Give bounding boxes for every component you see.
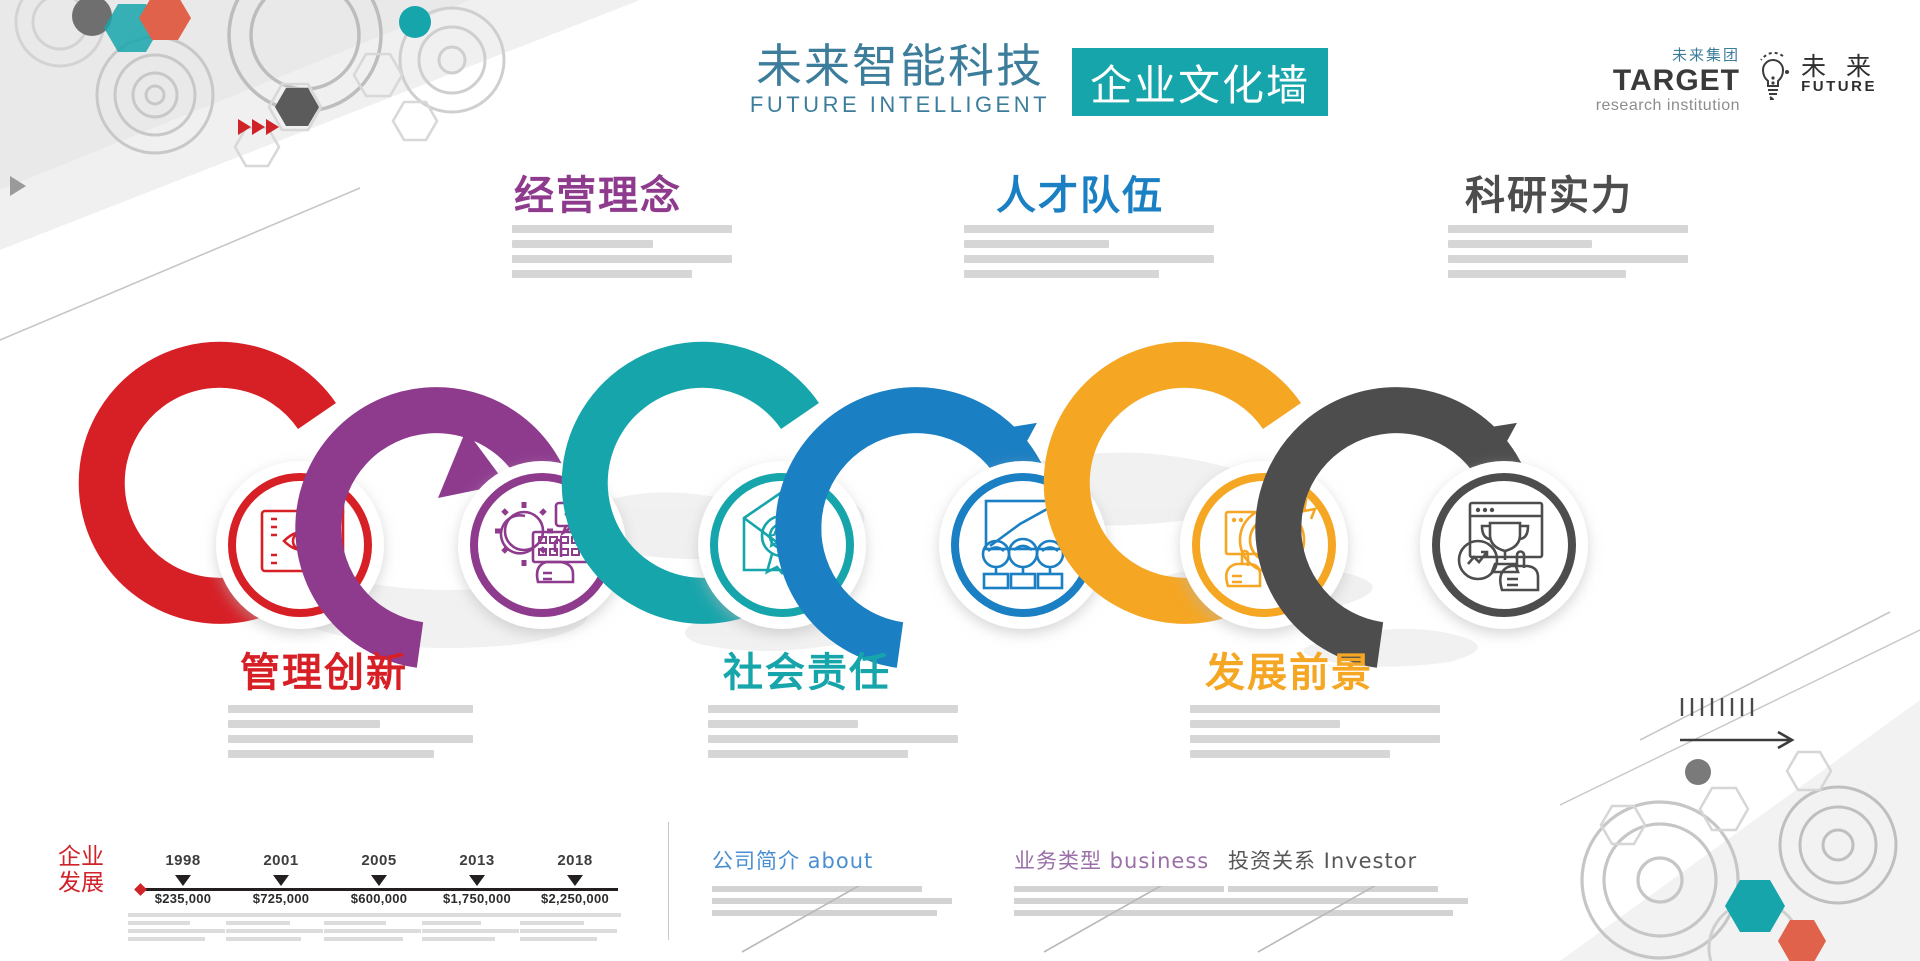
timeline-text-lines <box>226 913 336 941</box>
node-title-2: 经营理念 <box>514 163 682 221</box>
logo-target: 未来集团 TARGET research institution <box>1585 44 1740 115</box>
logo-future: 未 来 FUTURE <box>1752 48 1877 100</box>
poster-header: 未来智能科技 FUTURE INTELLIGENT 企业文化墙 未来集团 TAR… <box>0 0 1920 150</box>
timeline-item[interactable]: 1998 $235,000 <box>128 852 238 945</box>
footer-link-title: 公司简介 about <box>712 845 962 875</box>
node-title-6: 科研实力 <box>1465 163 1633 221</box>
logo-target-name: TARGET <box>1585 65 1740 97</box>
timeline-item[interactable]: 2013 $1,750,000 <box>422 852 532 945</box>
timeline-value: $235,000 <box>128 891 238 906</box>
timeline-year: 2005 <box>324 852 434 869</box>
node-text-lines-3 <box>708 705 958 765</box>
slash-decoration <box>712 886 962 956</box>
node-text-lines-2 <box>512 225 732 285</box>
timeline-text-lines <box>128 913 238 941</box>
footer-link-lines <box>1228 886 1478 916</box>
timeline-text-lines <box>422 913 532 941</box>
logo-target-cn: 未来集团 <box>1585 44 1740 65</box>
timeline-text-lines <box>520 913 630 941</box>
timeline-item[interactable]: 2005 $600,000 <box>324 852 434 945</box>
slash-decoration <box>1228 886 1478 956</box>
timeline-text-lines <box>324 913 434 941</box>
footer-link-investor[interactable]: 投资关系 Investor <box>1228 845 1478 922</box>
node-title-4: 人才队伍 <box>996 163 1164 221</box>
logo-target-subtitle: research institution <box>1585 97 1740 115</box>
timeline-year: 2013 <box>422 852 532 869</box>
timeline-value: $600,000 <box>324 891 434 906</box>
timeline-pointer-icon <box>567 875 583 886</box>
process-flow: 经营理念 人才队伍 科研实力 管理创新 社会责任 发展前景 <box>0 150 1920 770</box>
node-text-lines-6 <box>1448 225 1688 285</box>
node-text-lines-1 <box>228 705 473 765</box>
slash-decoration <box>1014 886 1264 956</box>
node-text-lines-4 <box>964 225 1214 285</box>
node-text-lines-5 <box>1190 705 1440 765</box>
timeline-pointer-icon <box>371 875 387 886</box>
footer-link-title: 业务类型 business <box>1014 845 1264 875</box>
brand-name-cn: 未来智能科技 <box>735 42 1065 90</box>
logo-future-cn: 未 来 <box>1801 54 1877 79</box>
footer-link-business[interactable]: 业务类型 business <box>1014 845 1264 922</box>
poster-canvas: 未来智能科技 FUTURE INTELLIGENT 企业文化墙 未来集团 TAR… <box>0 0 1920 961</box>
lightbulb-icon <box>1752 48 1794 100</box>
footer-link-lines <box>1014 886 1264 916</box>
timeline-item[interactable]: 2001 $725,000 <box>226 852 336 945</box>
timeline-item[interactable]: 2018 $2,250,000 <box>520 852 630 945</box>
timeline-value: $1,750,000 <box>422 891 532 906</box>
node-title-1: 管理创新 <box>240 640 408 698</box>
timeline-year: 2018 <box>520 852 630 869</box>
timeline-value: $2,250,000 <box>520 891 630 906</box>
page-title-badge: 企业文化墙 <box>1072 48 1328 116</box>
node-title-5: 发展前景 <box>1205 640 1373 698</box>
timeline-pointer-icon <box>273 875 289 886</box>
timeline-label: 企业 发展 <box>58 845 120 897</box>
footer-link-about[interactable]: 公司简介 about <box>712 845 962 922</box>
timeline-value: $725,000 <box>226 891 336 906</box>
timeline-pointer-icon <box>469 875 485 886</box>
timeline-label-line1: 企业 <box>58 845 120 871</box>
timeline-label-line2: 发展 <box>58 871 120 897</box>
logo-future-en: FUTURE <box>1801 79 1877 94</box>
footer-link-lines <box>712 886 962 916</box>
footer-divider <box>668 822 669 940</box>
timeline-year: 2001 <box>226 852 336 869</box>
node-title-3: 社会责任 <box>723 640 891 698</box>
timeline-year: 1998 <box>128 852 238 869</box>
company-timeline: 1998 $235,000 2001 $725,000 2005 $600,00… <box>128 852 618 942</box>
brand-name-en: FUTURE INTELLIGENT <box>735 92 1065 118</box>
timeline-pointer-icon <box>175 875 191 886</box>
brand-lockup: 未来智能科技 FUTURE INTELLIGENT <box>735 42 1065 118</box>
footer-link-title: 投资关系 Investor <box>1228 845 1478 875</box>
